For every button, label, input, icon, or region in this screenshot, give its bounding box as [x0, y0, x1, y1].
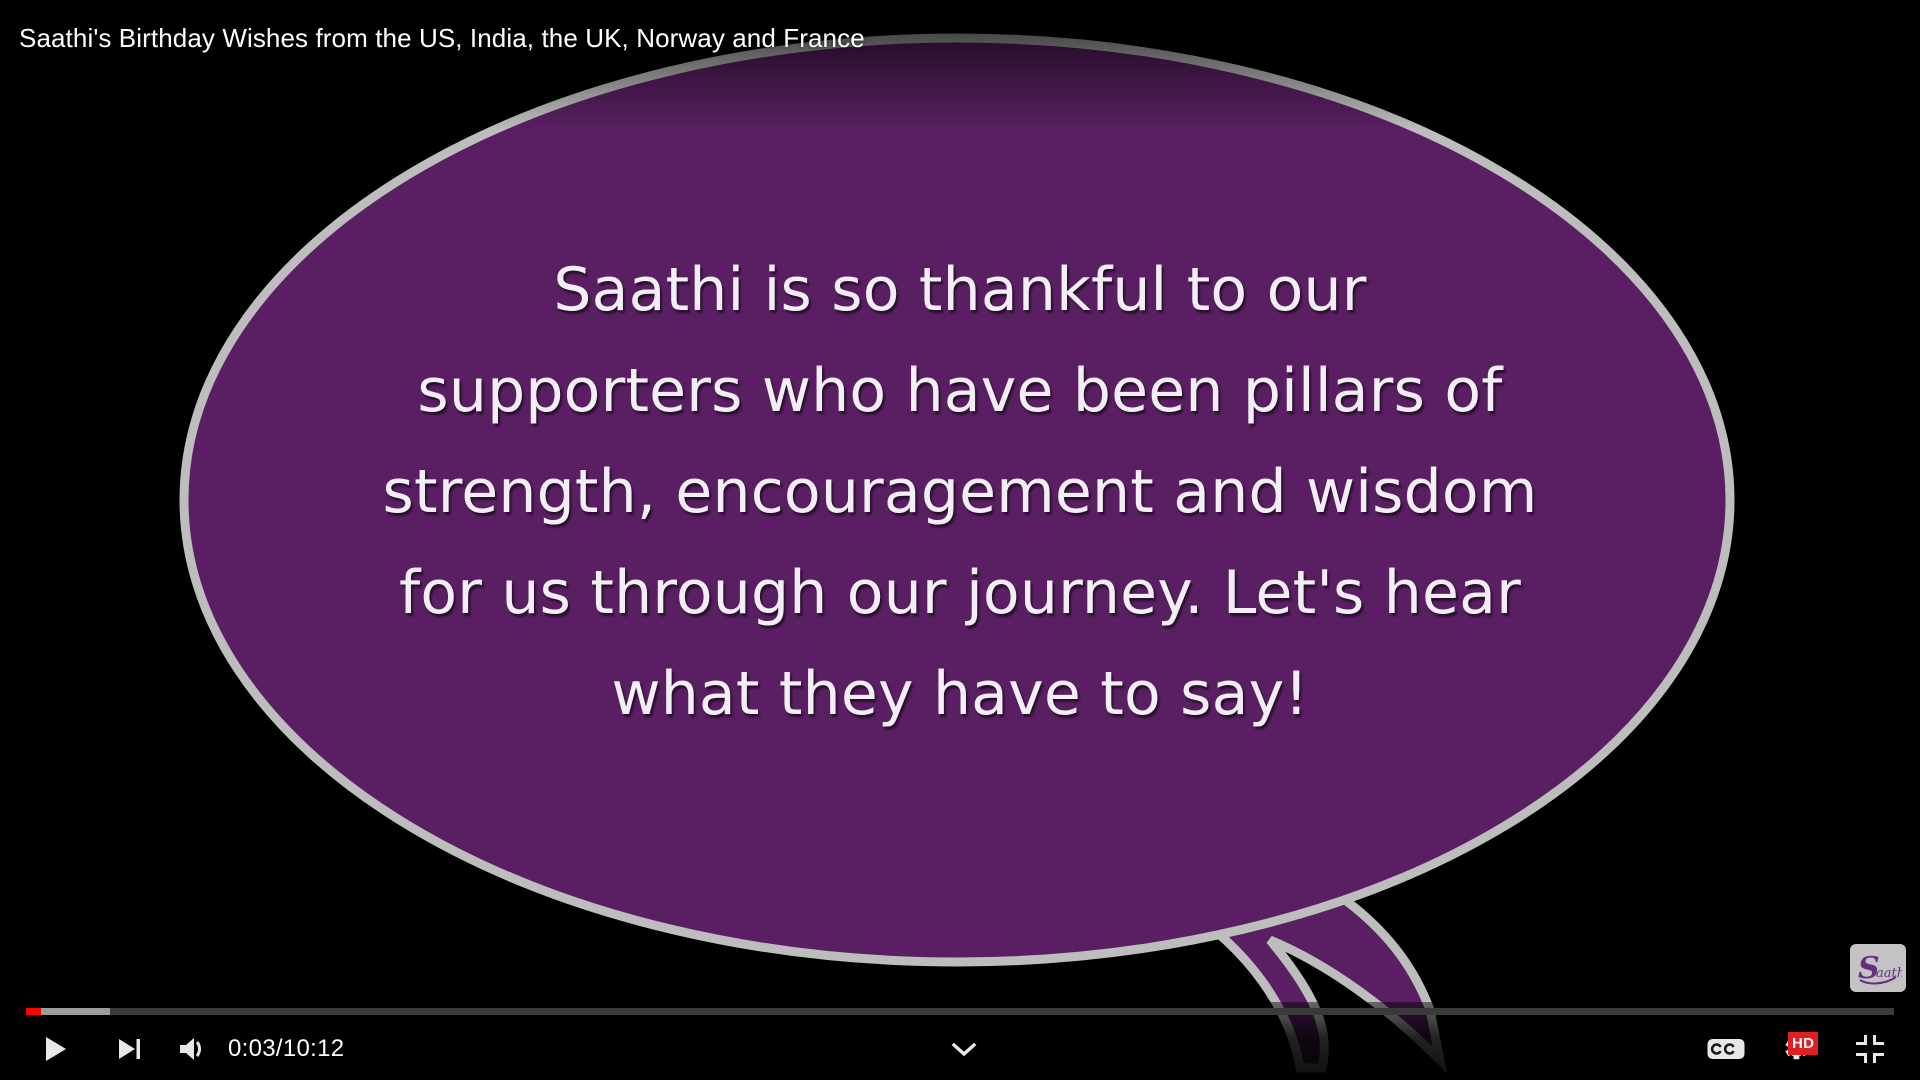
progress-played	[26, 1008, 41, 1015]
volume-icon	[177, 1035, 209, 1063]
saathi-logo-icon: S aathi	[1854, 947, 1902, 989]
time-display: 0:03 / 10:12	[228, 1018, 344, 1080]
next-track-icon	[115, 1035, 143, 1063]
svg-text:aathi: aathi	[1876, 966, 1902, 981]
captions-button[interactable]	[1700, 1018, 1752, 1080]
exit-fullscreen-icon	[1854, 1033, 1886, 1065]
control-buttons-row: 0:03 / 10:12	[0, 1018, 1920, 1080]
time-current: 0:03	[228, 1035, 276, 1063]
bubble-body	[184, 38, 1730, 962]
progress-track[interactable]	[26, 1008, 1894, 1015]
time-total: 10:12	[283, 1035, 345, 1063]
play-icon	[39, 1033, 71, 1065]
channel-watermark[interactable]: S aathi	[1850, 944, 1906, 992]
video-player: Saathi is so thankful to oursupporters w…	[0, 0, 1920, 1080]
video-stage[interactable]: Saathi is so thankful to oursupporters w…	[0, 0, 1920, 1080]
settings-button[interactable]: HD	[1766, 1018, 1824, 1080]
video-title[interactable]: Saathi's Birthday Wishes from the US, In…	[19, 23, 865, 54]
play-button[interactable]	[32, 1018, 78, 1080]
closed-captions-icon	[1706, 1035, 1746, 1063]
exit-fullscreen-button[interactable]	[1844, 1018, 1896, 1080]
volume-button[interactable]	[170, 1018, 216, 1080]
chevron-down-button[interactable]	[940, 1018, 988, 1080]
speech-bubble-graphic	[0, 0, 1920, 1080]
hd-quality-badge: HD	[1788, 1032, 1818, 1055]
time-separator: /	[276, 1035, 283, 1063]
chevron-down-icon	[951, 1041, 977, 1057]
control-bar: 0:03 / 10:12	[0, 1002, 1920, 1080]
progress-bar[interactable]	[26, 1007, 1894, 1017]
next-video-button[interactable]	[108, 1018, 150, 1080]
